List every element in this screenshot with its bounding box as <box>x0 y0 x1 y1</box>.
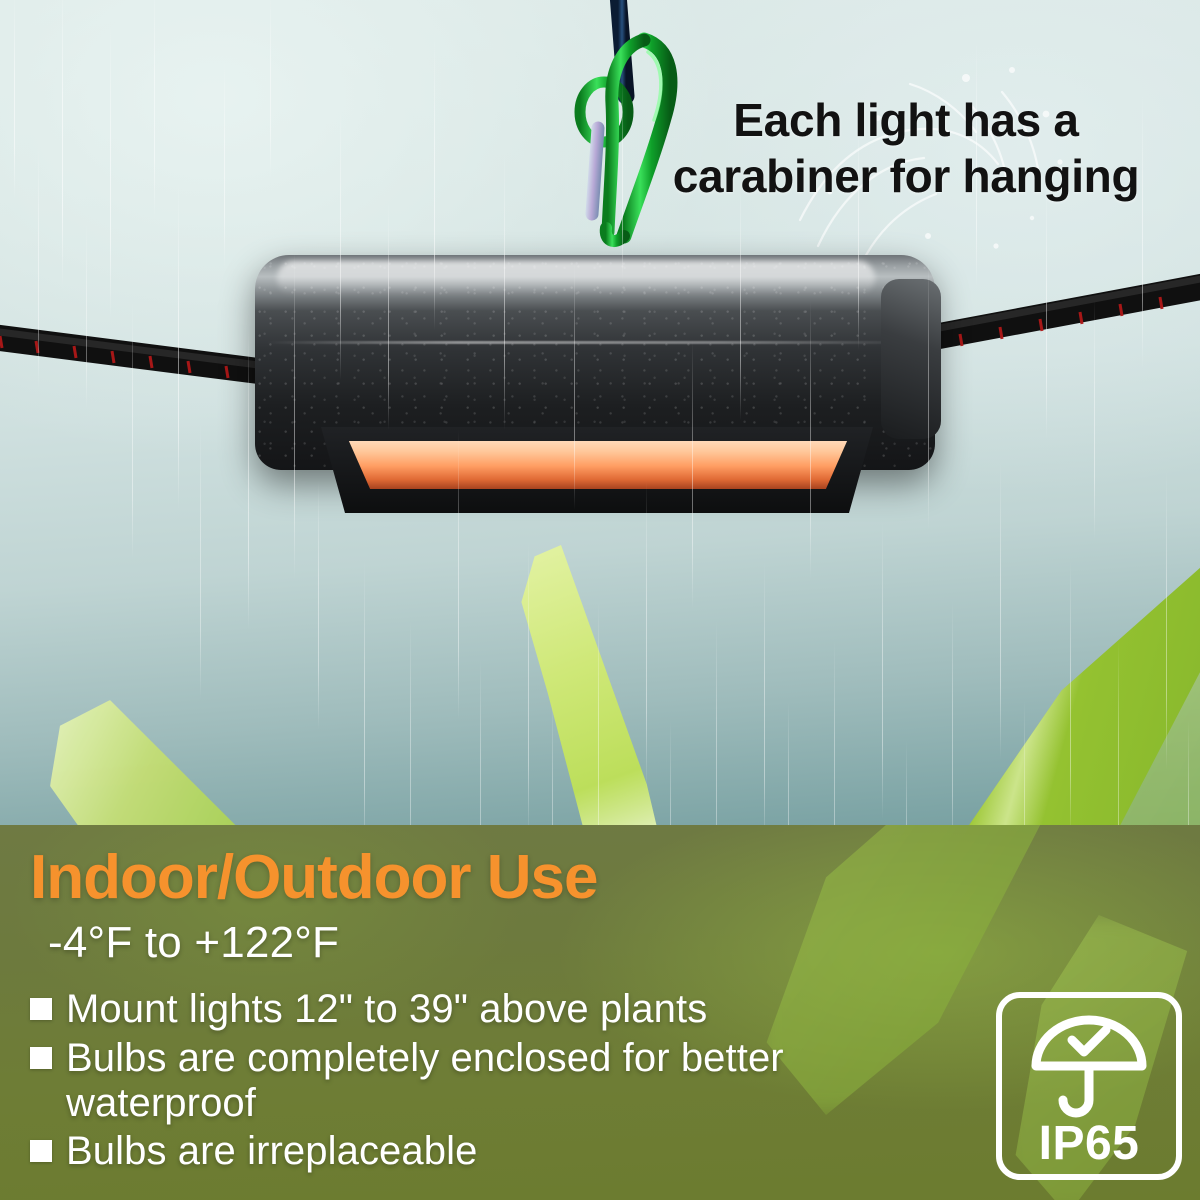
feature-bullet-list: Mount lights 12" to 39" above plants Bul… <box>30 987 860 1174</box>
list-item: Mount lights 12" to 39" above plants <box>30 987 860 1032</box>
bullet-text: Bulbs are irreplaceable <box>66 1129 477 1174</box>
led-grow-light-fixture <box>255 255 935 515</box>
square-bullet-icon <box>30 1140 52 1162</box>
list-item: Bulbs are completely enclosed for better… <box>30 1036 860 1126</box>
banner-title: Indoor/Outdoor Use <box>30 847 1200 909</box>
square-bullet-icon <box>30 1047 52 1069</box>
headline: Each light has a carabiner for hanging <box>626 92 1186 204</box>
product-feature-image: Each light has a carabiner for hanging I… <box>0 0 1200 1200</box>
temperature-range: -4°F to +122°F <box>48 921 1200 965</box>
bullet-text: Bulbs are completely enclosed for better… <box>66 1036 860 1126</box>
headline-line-1: Each light has a <box>626 92 1186 148</box>
bullet-text: Mount lights 12" to 39" above plants <box>66 987 707 1032</box>
status-badge: IP65 <box>996 992 1182 1180</box>
square-bullet-icon <box>30 998 52 1020</box>
power-cable-left <box>0 300 290 410</box>
led-glow-strip <box>333 441 863 489</box>
headline-line-2: carabiner for hanging <box>626 148 1186 204</box>
ip-rating-label: IP65 <box>1039 1120 1140 1168</box>
umbrella-check-icon <box>1028 1014 1150 1118</box>
list-item: Bulbs are irreplaceable <box>30 1129 860 1174</box>
